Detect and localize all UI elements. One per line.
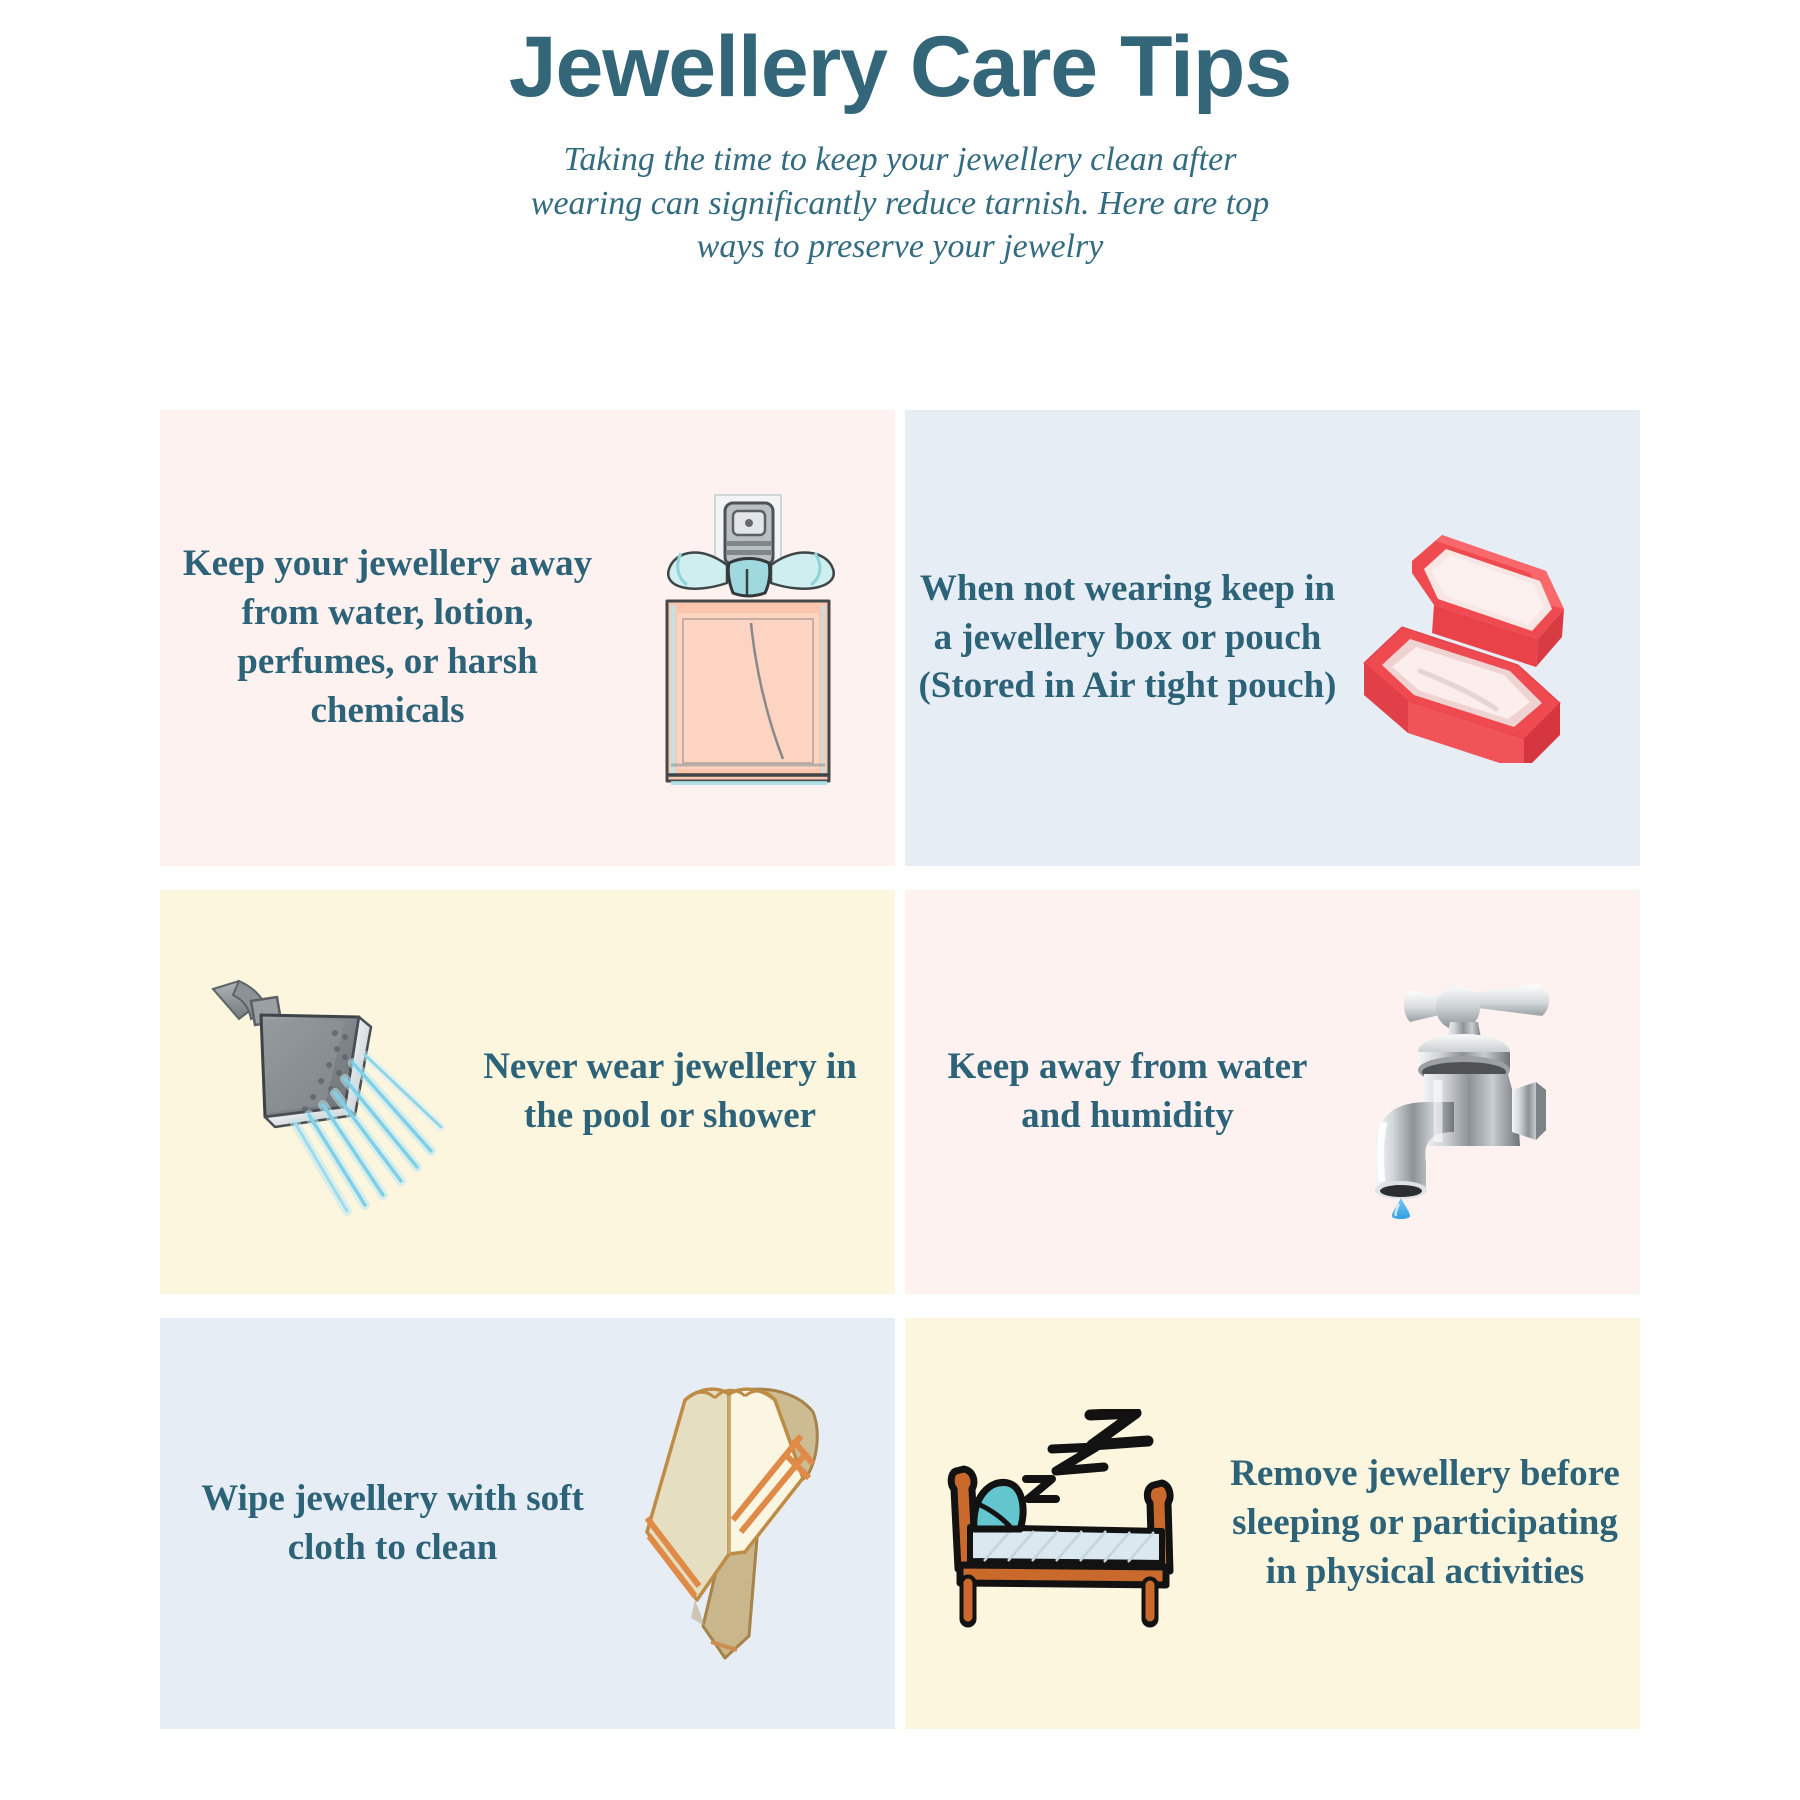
tip-card-avoid-humidity[interactable]: Keep away from water and humidity — [905, 890, 1640, 1294]
tip-card-text: Never wear jewellery in the pool or show… — [445, 1043, 895, 1141]
page-subtitle: Taking the time to keep your jewellery c… — [505, 138, 1295, 269]
perfume-bottle-icon — [615, 473, 895, 803]
tip-card-wipe-with-cloth[interactable]: Wipe jewellery with soft cloth to clean — [160, 1318, 895, 1729]
cloth-icon — [625, 1374, 895, 1674]
tip-card-store-in-box[interactable]: When not wearing keep in a jewellery box… — [905, 410, 1640, 866]
infographic-page: Jewellery Care Tips Taking the time to k… — [0, 0, 1800, 1800]
ring-box-icon — [1350, 513, 1640, 763]
tip-card-text: Keep your jewellery away from water, lot… — [160, 540, 615, 735]
tip-card-remove-before-sleep[interactable]: Remove jewellery before sleeping or part… — [905, 1318, 1640, 1729]
page-header: Jewellery Care Tips Taking the time to k… — [0, 0, 1800, 269]
tips-grid: Keep your jewellery away from water, lot… — [160, 410, 1640, 1729]
tip-card-text: Keep away from water and humidity — [905, 1043, 1350, 1141]
tip-card-text: When not wearing keep in a jewellery box… — [905, 565, 1350, 711]
tip-card-text: Wipe jewellery with soft cloth to clean — [160, 1475, 625, 1573]
tip-card-avoid-chemicals[interactable]: Keep your jewellery away from water, lot… — [160, 410, 895, 866]
tip-card-no-pool-shower[interactable]: Never wear jewellery in the pool or show… — [160, 890, 895, 1294]
shower-head-icon — [160, 967, 445, 1217]
page-title: Jewellery Care Tips — [0, 22, 1800, 112]
bed-sleeping-icon — [905, 1409, 1210, 1639]
faucet-icon — [1350, 962, 1640, 1222]
tip-card-text: Remove jewellery before sleeping or part… — [1210, 1450, 1640, 1596]
